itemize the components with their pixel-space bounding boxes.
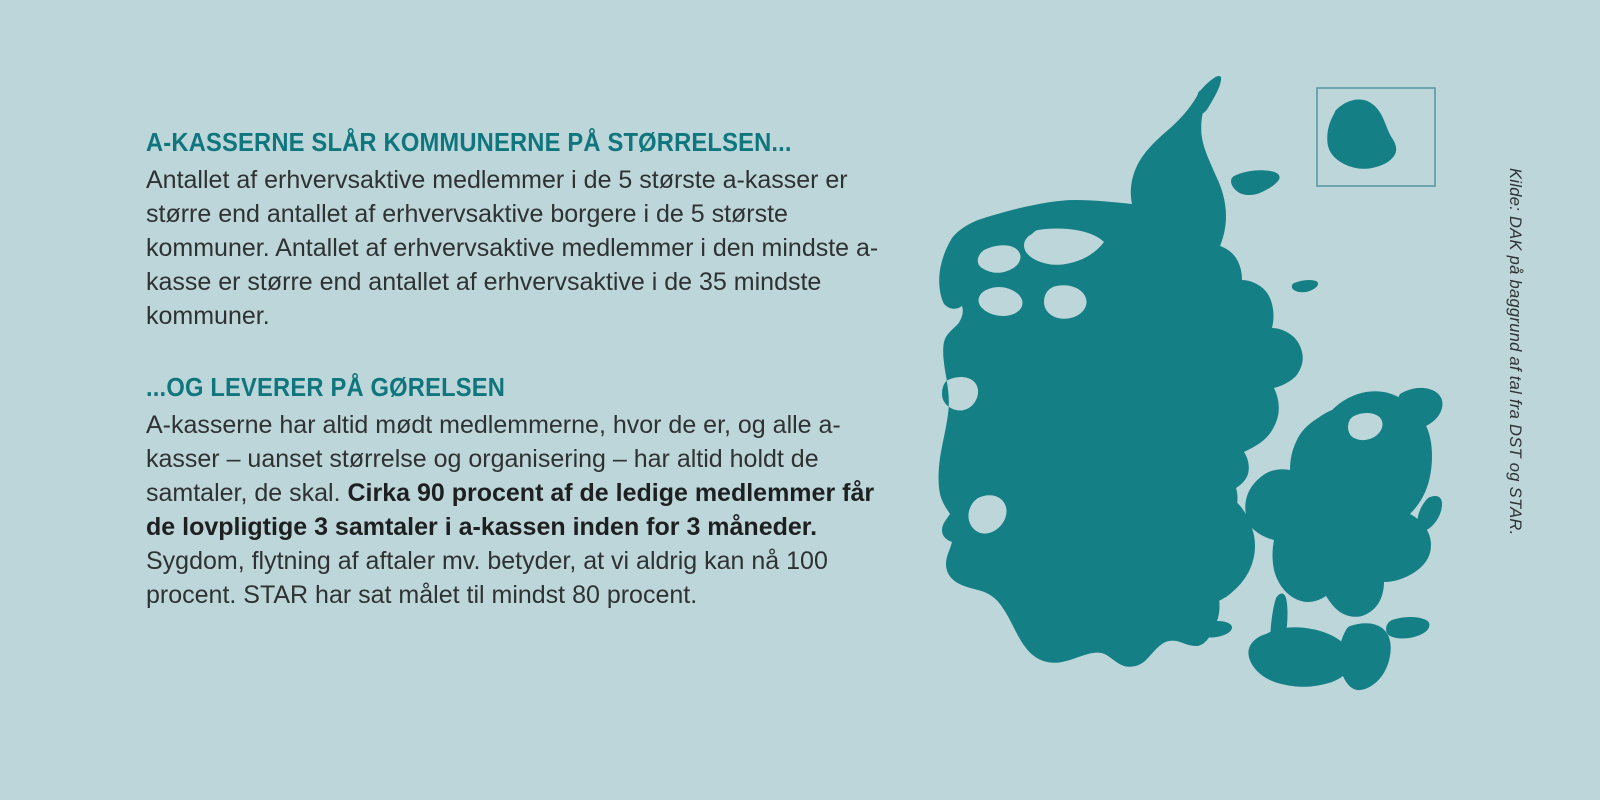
block-1-heading: A-KASSERNE SLÅR KOMMUNERNE PÅ STØRRELSEN… [146,128,853,158]
map-region-anholt [1292,280,1318,292]
text-column: A-KASSERNE SLÅR KOMMUNERNE PÅ STØRRELSEN… [146,128,906,612]
denmark-map [880,58,1460,738]
block-2-paragraph: A-kasserne har altid mødt medlemmerne, h… [146,408,906,612]
denmark-map-svg [880,58,1460,738]
map-region-bornholm [1327,99,1396,168]
map-region-skagen [1197,76,1222,114]
text-block-1: A-KASSERNE SLÅR KOMMUNERNE PÅ STØRRELSEN… [146,128,906,333]
infographic-page: A-KASSERNE SLÅR KOMMUNERNE PÅ STØRRELSEN… [0,0,1600,800]
block-1-paragraph: Antallet af erhvervsaktive medlemmer i d… [146,163,906,333]
map-region-mon [1386,617,1429,638]
text-block-2: ...OG LEVERER PÅ GØRELSEN A-kasserne har… [146,373,906,612]
map-region-laeso [1231,170,1280,195]
map-region-lolland [1248,627,1352,687]
map-region-amager [1417,496,1442,531]
block-2-heading: ...OG LEVERER PÅ GØRELSEN [146,373,853,403]
map-region-nordsjaelland [1396,388,1443,429]
block-2-tail: Sygdom, flytning af aftaler mv. betyder,… [146,547,828,609]
source-note: Kilde: DAK på baggrund af tal fra DST og… [1505,168,1524,536]
